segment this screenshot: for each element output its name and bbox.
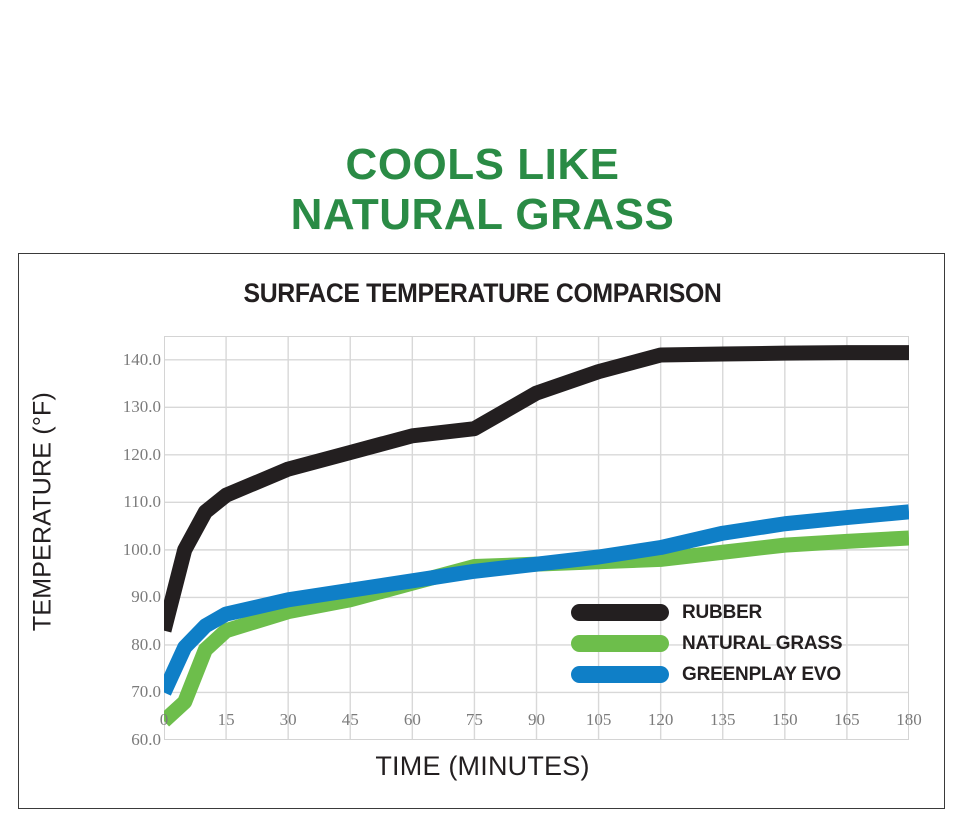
x-axis-tick-label: 105 xyxy=(569,710,629,730)
y-axis-tick-label: 60.0 xyxy=(101,730,161,750)
x-axis-tick-label: 120 xyxy=(631,710,691,730)
y-axis-tick-label: 120.0 xyxy=(101,445,161,465)
legend-label: RUBBER xyxy=(682,602,762,624)
x-axis-tick-label: 90 xyxy=(507,710,567,730)
x-axis-tick-label: 180 xyxy=(879,710,939,730)
x-axis-tick-label: 30 xyxy=(258,710,318,730)
y-axis-tick-label: 100.0 xyxy=(101,540,161,560)
x-axis-tick-labels: 0153045607590105120135150165180 xyxy=(164,710,924,734)
x-axis-tick-label: 135 xyxy=(693,710,753,730)
x-axis-tick-label: 60 xyxy=(382,710,442,730)
x-axis-tick-label: 165 xyxy=(817,710,877,730)
legend-swatch-icon xyxy=(571,666,669,683)
headline: COOLS LIKE NATURAL GRASS xyxy=(0,140,965,240)
legend-swatch-icon xyxy=(571,635,669,652)
headline-line-1: COOLS LIKE xyxy=(0,140,965,190)
chart-legend: RUBBERNATURAL GRASSGREENPLAY EVO xyxy=(571,597,881,690)
legend-item[interactable]: NATURAL GRASS xyxy=(571,628,881,659)
legend-item[interactable]: RUBBER xyxy=(571,597,881,628)
x-axis-tick-label: 0 xyxy=(134,710,194,730)
y-axis-tick-label: 130.0 xyxy=(101,397,161,417)
headline-line-2: NATURAL GRASS xyxy=(0,190,965,240)
legend-label: GREENPLAY EVO xyxy=(682,664,841,686)
x-axis-tick-label: 75 xyxy=(444,710,504,730)
x-axis-tick-label: 150 xyxy=(755,710,815,730)
legend-swatch-icon xyxy=(571,604,669,621)
y-axis-title: TEMPERATURE (°F) xyxy=(29,347,58,677)
y-axis-tick-label: 80.0 xyxy=(101,635,161,655)
y-axis-tick-label: 140.0 xyxy=(101,350,161,370)
legend-item[interactable]: GREENPLAY EVO xyxy=(571,659,881,690)
chart-card: SURFACE TEMPERATURE COMPARISON TEMPERATU… xyxy=(18,253,945,809)
x-axis-tick-label: 15 xyxy=(196,710,256,730)
x-axis-title: TIME (MINUTES) xyxy=(19,751,946,782)
y-axis-tick-labels: 60.070.080.090.0100.0110.0120.0130.0140.… xyxy=(89,336,161,740)
x-axis-tick-label: 45 xyxy=(320,710,380,730)
chart-title: SURFACE TEMPERATURE COMPARISON xyxy=(56,278,909,309)
y-axis-tick-label: 70.0 xyxy=(101,682,161,702)
y-axis-tick-label: 90.0 xyxy=(101,587,161,607)
y-axis-tick-label: 110.0 xyxy=(101,492,161,512)
legend-label: NATURAL GRASS xyxy=(682,633,842,655)
